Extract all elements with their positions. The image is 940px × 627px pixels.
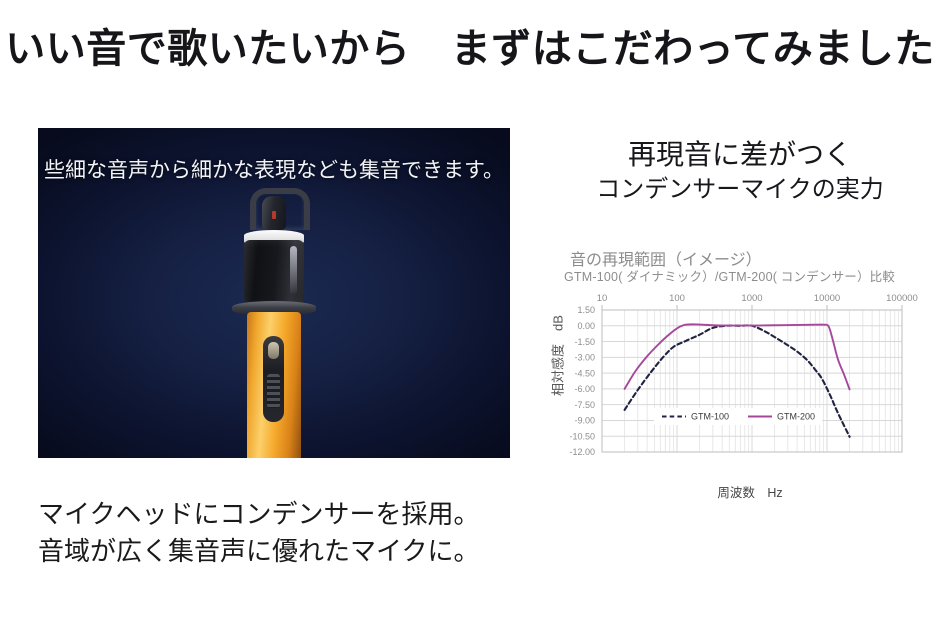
svg-text:100: 100	[669, 293, 685, 304]
svg-text:-12.00: -12.00	[569, 447, 595, 457]
svg-text:-7.50: -7.50	[574, 400, 595, 410]
svg-text:-10.50: -10.50	[569, 431, 595, 441]
svg-text:-3.00: -3.00	[574, 353, 595, 363]
left-description-line-2: 音域が広く集音声に優れたマイクに。	[38, 533, 538, 570]
left-description: マイクヘッドにコンデンサーを採用。 音域が広く集音声に優れたマイクに。	[38, 496, 538, 571]
right-heading: 再現音に差がつく コンデンサーマイクの実力	[540, 138, 940, 207]
left-description-line-1: マイクヘッドにコンデンサーを採用。	[38, 496, 538, 533]
svg-text:-4.50: -4.50	[574, 368, 595, 378]
mic-clip-indicator	[272, 211, 276, 219]
svg-text:0.00: 0.00	[577, 321, 595, 331]
product-photo: 些細な音声から細かな表現なども集音できます。	[38, 128, 510, 458]
right-heading-line-1: 再現音に差がつく	[540, 138, 940, 174]
mic-switch-grip	[267, 374, 280, 408]
svg-text:-9.00: -9.00	[574, 416, 595, 426]
page-title: いい音で歌いたいから まずはこだわってみました	[0, 16, 940, 74]
mic-power-led	[268, 342, 279, 359]
chart-y-axis-label: 相対感度 dB	[548, 301, 567, 411]
svg-text:GTM-100: GTM-100	[691, 412, 729, 422]
svg-text:-1.50: -1.50	[574, 337, 595, 347]
right-heading-line-2: コンデンサーマイクの実力	[540, 174, 940, 206]
svg-text:1000: 1000	[741, 293, 762, 304]
chart-subtitle: GTM-100( ダイナミック）/GTM-200( コンデンサー）比較	[564, 266, 895, 285]
chart-x-axis-label: 周波数 Hz	[600, 482, 900, 501]
photo-caption: 些細な音声から細かな表現なども集音できます。	[38, 154, 510, 184]
svg-text:-6.00: -6.00	[574, 384, 595, 394]
svg-text:1.50: 1.50	[577, 305, 595, 315]
microphone-illustration	[241, 188, 307, 458]
chart-plot-area: 101001000100001000001.500.00-1.50-3.00-4…	[540, 284, 920, 484]
svg-text:10: 10	[597, 293, 608, 304]
svg-text:10000: 10000	[814, 293, 840, 304]
frequency-response-chart: 音の再現範囲（イメージ） GTM-100( ダイナミック）/GTM-200( コ…	[540, 246, 920, 502]
svg-text:100000: 100000	[886, 293, 918, 304]
mic-head-highlight	[290, 246, 297, 294]
svg-text:GTM-200: GTM-200	[777, 412, 815, 422]
